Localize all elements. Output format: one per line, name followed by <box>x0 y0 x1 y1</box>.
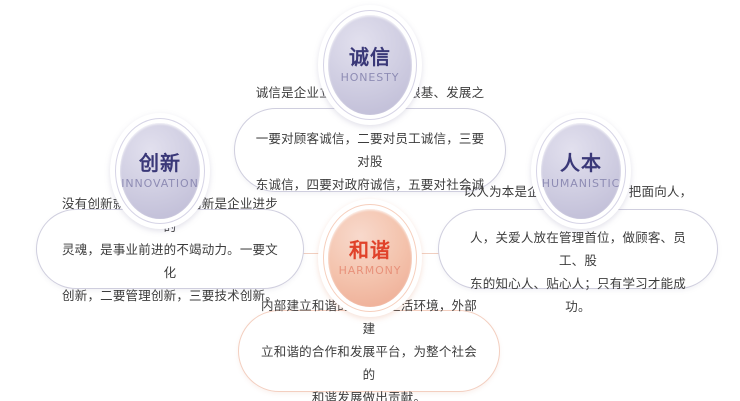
node-honesty-subtitle: HONESTY <box>341 71 400 84</box>
node-humanistic-subtitle: HUMANISTIC <box>542 177 620 190</box>
node-honesty[interactable]: 诚信 HONESTY <box>318 5 422 125</box>
node-harmony-subtitle: HARMONY <box>339 264 402 277</box>
node-innovation-subtitle: INNOVATION <box>121 177 199 190</box>
harmony-disc: 和谐 HARMONY <box>328 209 412 307</box>
node-honesty-title: 诚信 <box>349 46 391 68</box>
innovation-disc: 创新 INNOVATION <box>120 123 200 219</box>
node-innovation[interactable]: 创新 INNOVATION <box>110 113 210 229</box>
bubble-harmony: 内部建立和谐的工作和生活环境，外部建 立和谐的合作和发展平台，为整个社会的 和谐… <box>238 310 500 392</box>
node-innovation-title: 创新 <box>139 152 181 174</box>
node-humanistic[interactable]: 人本 HUMANISTIC <box>531 113 631 229</box>
node-harmony[interactable]: 和谐 HARMONY <box>318 199 422 317</box>
honesty-disc: 诚信 HONESTY <box>328 15 412 115</box>
node-humanistic-title: 人本 <box>560 152 602 174</box>
humanistic-disc: 人本 HUMANISTIC <box>541 123 621 219</box>
node-harmony-title: 和谐 <box>349 239 391 261</box>
infographic-canvas: 诚信是企业立身之本、可靠根基、发展之宝。 一要对顾客诚信，二要对员工诚信，三要对… <box>0 0 740 401</box>
